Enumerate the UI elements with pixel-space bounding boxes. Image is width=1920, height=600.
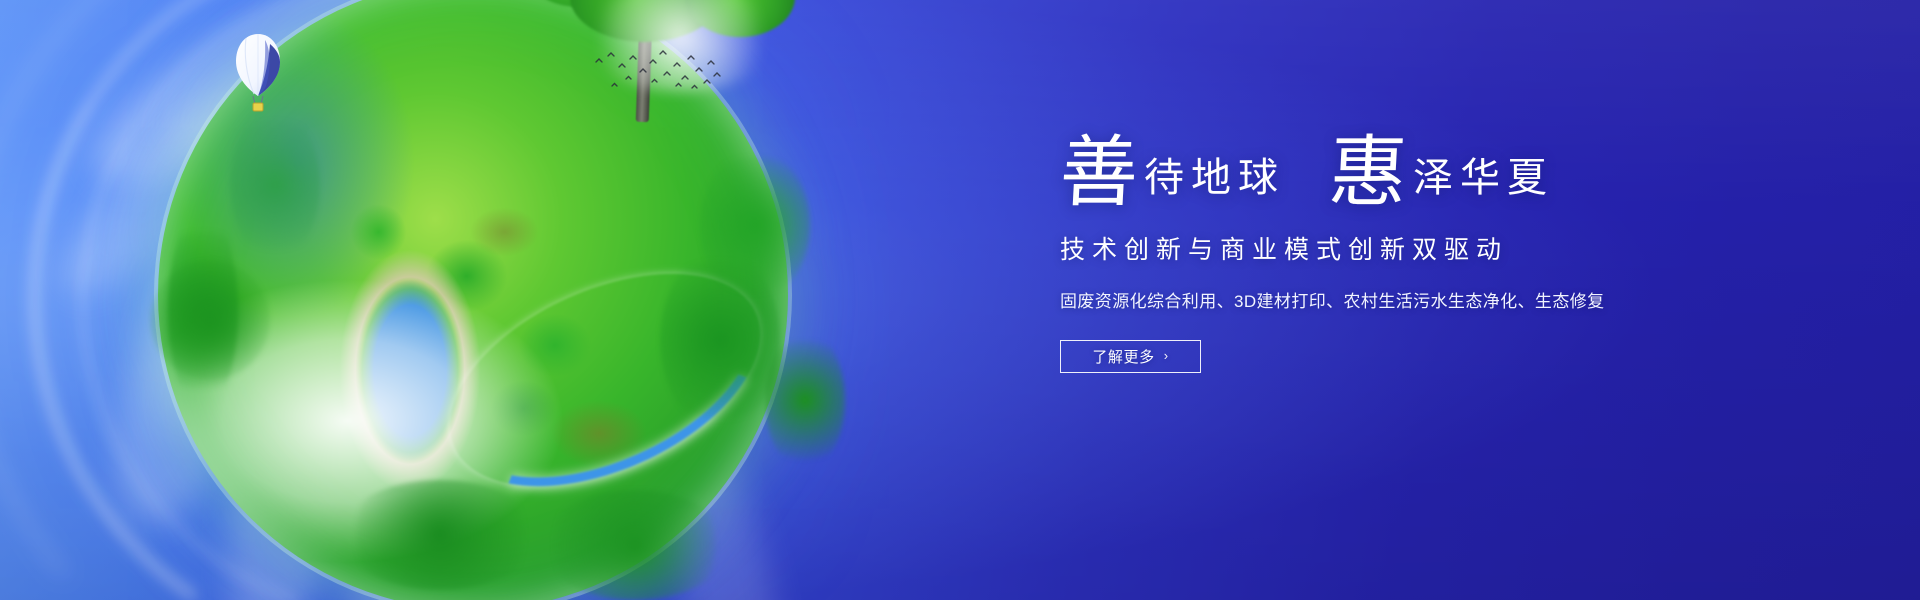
headline-lead-char-2: 惠 (1327, 134, 1409, 212)
headline-lead-char-1: 善 (1058, 134, 1140, 212)
treeline-fringe (700, 150, 810, 300)
learn-more-button[interactable]: 了解更多 › (1060, 340, 1201, 373)
learn-more-label: 了解更多 (1092, 346, 1154, 367)
hero-description: 固废资源化综合利用、3D建材打印、农村生活污水生态净化、生态修复 (1060, 287, 1700, 312)
treeline-fringe (340, 480, 540, 590)
headline-rest-1: 待地球 (1138, 158, 1285, 198)
hero-banner: 善 待地球 惠 泽华夏 技术创新与商业模式创新双驱动 固废资源化综合利用、3D建… (0, 0, 1920, 600)
hot-air-balloon-icon (232, 32, 284, 116)
chevron-right-icon: › (1164, 349, 1169, 362)
treeline-fringe (230, 110, 320, 260)
page-title: 善 待地球 惠 泽华夏 (1060, 126, 1700, 204)
hero-subtitle: 技术创新与商业模式创新双驱动 (1060, 230, 1700, 266)
treeline-fringe (765, 330, 845, 470)
treeline-fringe (540, 490, 730, 600)
treeline-fringe (150, 260, 270, 380)
hero-copy-block: 善 待地球 惠 泽华夏 技术创新与商业模式创新双驱动 固废资源化综合利用、3D建… (1060, 126, 1700, 373)
bird-flock-icon (592, 48, 722, 94)
headline-rest-2: 泽华夏 (1407, 158, 1554, 198)
